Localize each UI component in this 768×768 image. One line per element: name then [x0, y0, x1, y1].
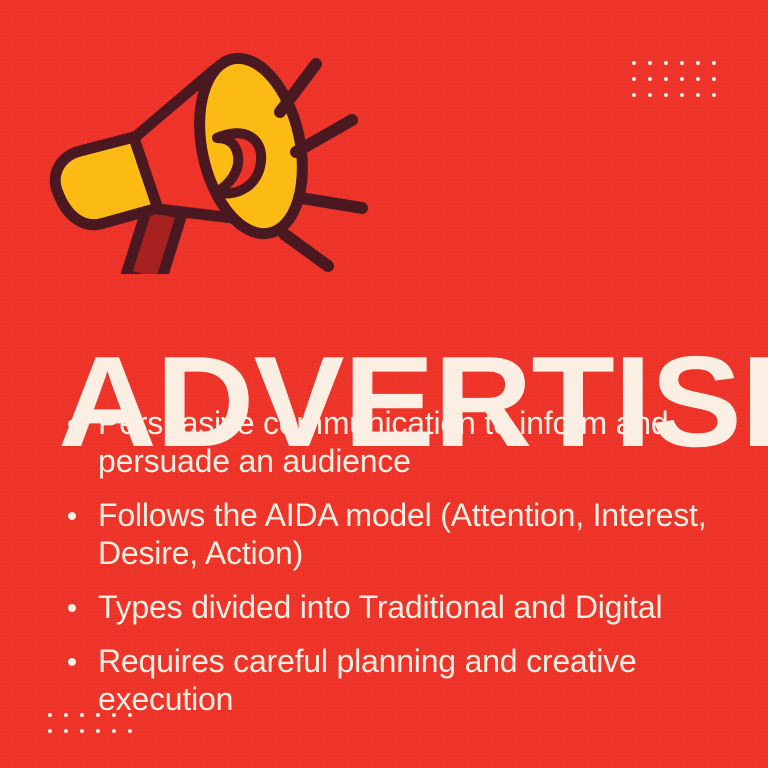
list-item-label: Requires careful planning and creative e… — [98, 642, 758, 718]
dot — [64, 729, 68, 733]
dot — [712, 93, 716, 97]
dot — [112, 729, 116, 733]
dot — [712, 61, 716, 65]
decorative-dot-grid-bottom-left — [48, 713, 132, 733]
dot — [632, 61, 636, 65]
dot — [128, 729, 132, 733]
bullet-dot-icon — [68, 420, 76, 428]
list-item-label: Follows the AIDA model (Attention, Inter… — [98, 496, 758, 572]
sound-wave-3 — [301, 198, 362, 208]
list-item: Persuasive communication to inform and p… — [62, 404, 758, 480]
dot — [96, 729, 100, 733]
list-item: Follows the AIDA model (Attention, Inter… — [62, 496, 758, 572]
feature-bullet-list: Persuasive communication to inform and p… — [62, 404, 762, 718]
dot — [128, 713, 132, 717]
list-item: Requires careful planning and creative e… — [62, 642, 758, 718]
dot — [664, 61, 668, 65]
dot — [648, 77, 652, 81]
bullet-dot-icon — [68, 512, 76, 520]
dot — [632, 77, 636, 81]
dot — [48, 729, 52, 733]
dot — [696, 77, 700, 81]
megaphone-icon — [48, 42, 368, 274]
dot — [48, 713, 52, 717]
dot — [696, 93, 700, 97]
dot — [648, 61, 652, 65]
dot — [680, 93, 684, 97]
bullet-dot-icon — [68, 604, 76, 612]
decorative-dot-grid-top-right — [632, 61, 716, 97]
list-item-label: Persuasive communication to inform and p… — [98, 404, 758, 480]
sound-wave-4 — [284, 234, 328, 266]
list-item-label: Types divided into Traditional and Digit… — [98, 588, 758, 626]
dot — [80, 729, 84, 733]
dot — [680, 77, 684, 81]
advertising-poster: ADVERTISING Persuasive communication to … — [0, 0, 768, 768]
dot — [648, 93, 652, 97]
dot — [712, 77, 716, 81]
dot — [680, 61, 684, 65]
dot — [632, 93, 636, 97]
dot — [664, 93, 668, 97]
dot — [64, 713, 68, 717]
bullet-dot-icon — [68, 658, 76, 666]
dot — [112, 713, 116, 717]
dot — [80, 713, 84, 717]
dot — [696, 61, 700, 65]
dot — [96, 713, 100, 717]
dot — [664, 77, 668, 81]
list-item: Types divided into Traditional and Digit… — [62, 588, 758, 626]
